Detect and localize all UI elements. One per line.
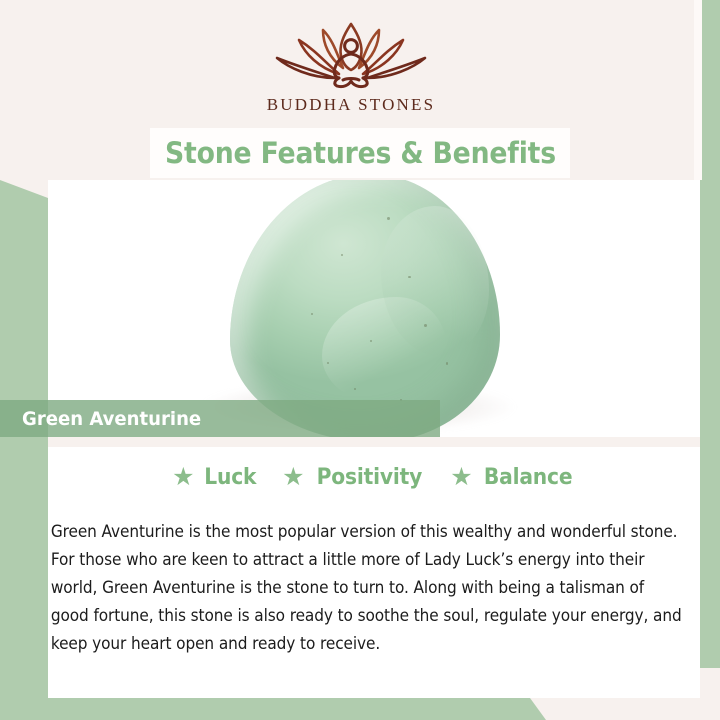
benefit-item-luck: ★ Luck [172, 465, 258, 490]
star-icon: ★ [450, 465, 472, 490]
benefit-item-positivity: ★ Positivity [282, 465, 426, 490]
stone-speck [327, 362, 329, 364]
description-text: Green Aventurine is the most popular ver… [34, 518, 703, 658]
infographic-page: BUDDHA STONES Stone Features & Benefits … [0, 0, 720, 720]
brand-logo: BUDDHA STONES [0, 18, 702, 130]
lotus-meditation-icon [263, 18, 439, 92]
star-icon: ★ [172, 465, 194, 490]
title-banner: Stone Features & Benefits [150, 128, 570, 178]
benefit-label: Balance [483, 465, 572, 490]
frame-accent-bottom [0, 698, 546, 720]
stone-speck [408, 276, 411, 278]
brand-name: BUDDHA STONES [267, 95, 436, 115]
benefit-item-balance: ★ Balance [450, 465, 576, 490]
benefit-label: Luck [204, 465, 256, 490]
stone-name-label: Green Aventurine [22, 408, 201, 430]
stone-name-band: Green Aventurine [0, 400, 440, 437]
description-panel: ★ Luck ★ Positivity ★ Balance Green Aven… [48, 447, 700, 698]
star-icon: ★ [282, 465, 304, 490]
stone-speck [387, 217, 390, 220]
page-title: Stone Features & Benefits [165, 136, 556, 170]
benefit-label: Positivity [316, 465, 421, 490]
stone-speck [446, 362, 448, 365]
benefits-row: ★ Luck ★ Positivity ★ Balance [48, 465, 700, 490]
section-divider [48, 437, 700, 447]
